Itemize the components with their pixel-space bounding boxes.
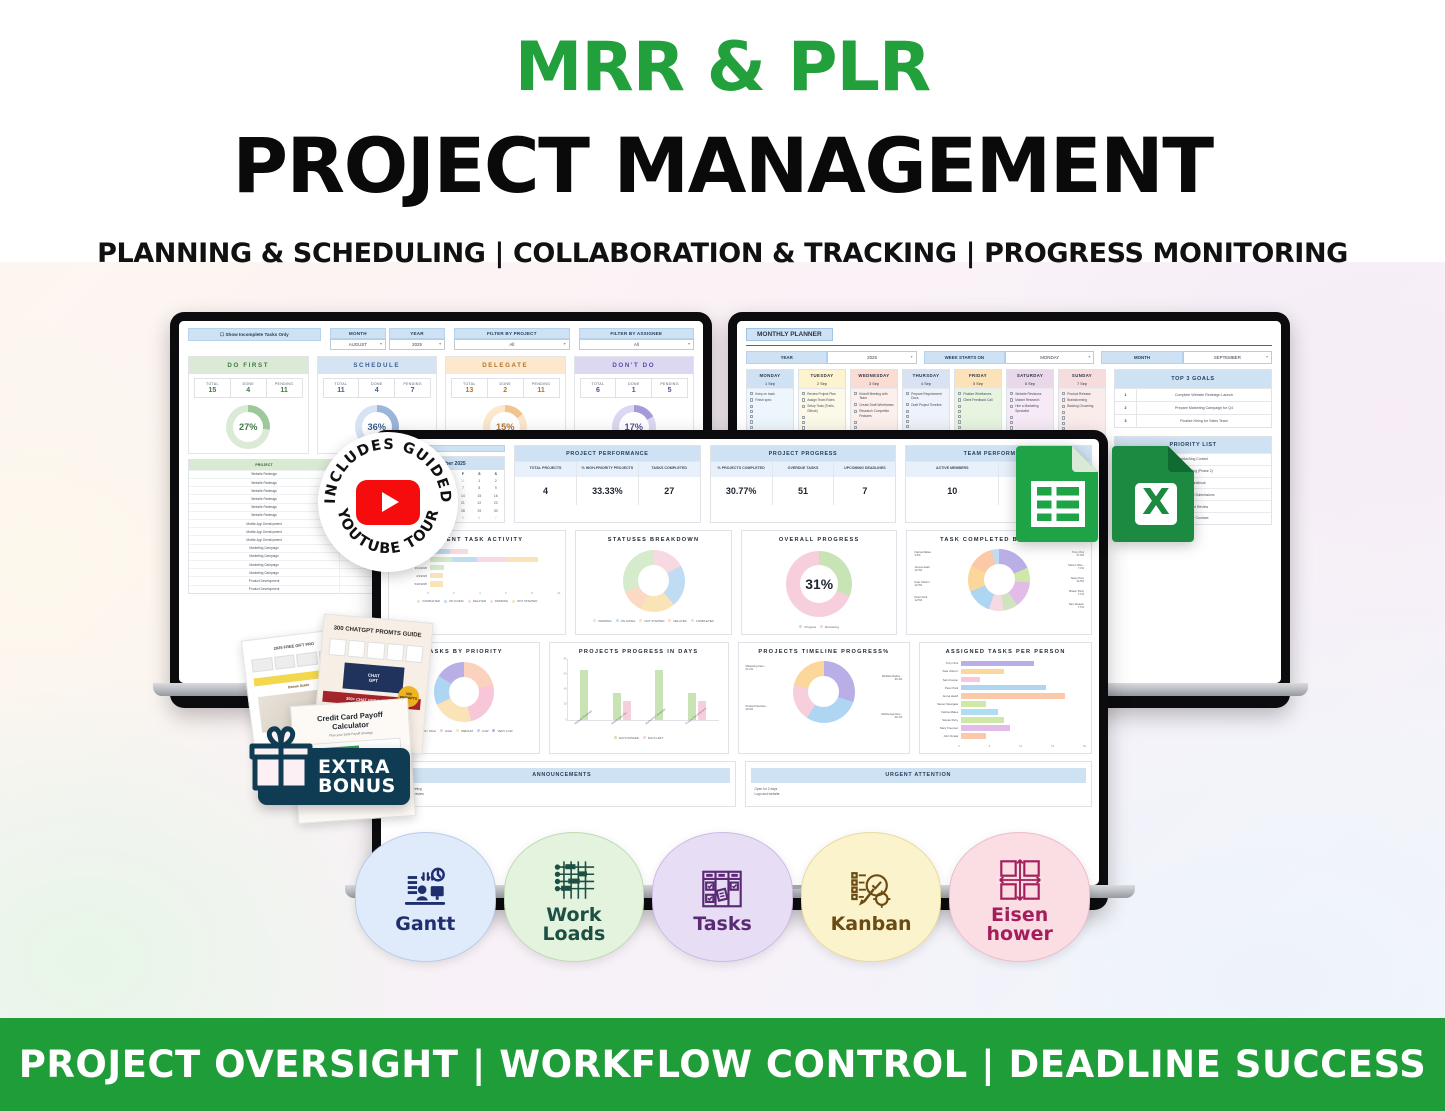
- day-task-item[interactable]: Backlog Grooming: [1062, 404, 1102, 409]
- person-name: Sam Kooper: [928, 678, 958, 682]
- control-select[interactable]: 2025: [827, 351, 916, 364]
- legend-swatch: [820, 625, 823, 628]
- task-label: Backlog Grooming: [1067, 404, 1093, 409]
- legend-label: PENDING: [598, 619, 611, 623]
- day-task-empty[interactable]: [958, 415, 998, 419]
- person-bar: [961, 677, 979, 683]
- day-task-item[interactable]: Brainstorming: [1062, 398, 1102, 403]
- quadrant-donut: 27%: [189, 398, 308, 449]
- day-task-empty[interactable]: [906, 425, 946, 429]
- task-checkbox[interactable]: [958, 405, 961, 408]
- legend-item: VERY LOW: [492, 729, 512, 733]
- task-checkbox[interactable]: [1010, 398, 1013, 401]
- goal-number: 1: [1115, 389, 1137, 401]
- excel-icon: X: [1108, 442, 1200, 546]
- legend-label: ON GOING: [621, 619, 636, 623]
- day-task-empty[interactable]: [802, 416, 842, 420]
- assigned-tasks-x-axis: 05101520: [925, 744, 1086, 748]
- bar-group: [580, 659, 588, 720]
- day-date: 6 Sep: [1007, 380, 1053, 389]
- day-task-empty[interactable]: [958, 420, 998, 424]
- stat-label: TOTAL: [581, 379, 616, 387]
- task-checkbox[interactable]: [854, 421, 857, 424]
- task-label: Review Project Plan: [807, 392, 836, 397]
- person-bar-track: [961, 693, 1083, 699]
- day-task-empty[interactable]: [750, 425, 790, 429]
- person-name: Peter Park: [928, 686, 958, 690]
- person-bar: [961, 661, 1034, 667]
- calendar-day[interactable]: 16: [488, 492, 504, 499]
- donut-callout: Steven Wes..7.1%: [1068, 564, 1084, 571]
- feature-gantt[interactable]: Gantt: [355, 832, 496, 962]
- axis-tick: 0: [565, 718, 567, 721]
- person-bar: [961, 669, 1004, 675]
- donut-callout: Peter Park12.5%: [914, 596, 927, 603]
- excel-letter: X: [1142, 482, 1170, 523]
- legend-swatch: [477, 729, 480, 732]
- kpi-metric: TOTAL PROJECTS4: [515, 461, 577, 505]
- activity-bar: [430, 581, 557, 587]
- task-checkbox[interactable]: [906, 425, 909, 428]
- legend-label: Progress: [804, 625, 816, 629]
- panel-title: PROJECTS PROGRESS IN DAYS: [555, 649, 723, 655]
- person-bar: [961, 693, 1064, 699]
- day-task-item[interactable]: Hire a Marketing Specialist: [1010, 404, 1050, 414]
- task-label: Research Competitor Features: [859, 409, 894, 419]
- legend-swatch: [593, 619, 596, 622]
- task-checkbox[interactable]: [1062, 405, 1065, 408]
- axis-tick: 8: [531, 592, 533, 595]
- stat-label: DONE: [616, 379, 651, 387]
- task-checkbox[interactable]: [906, 403, 909, 406]
- axis-tick: 4: [479, 592, 481, 595]
- axis-tick: 5: [989, 745, 991, 748]
- day-date: 4 Sep: [903, 380, 949, 389]
- planner-controls: YEAR2025WEEK STARTS ONMONDAYMONTHSEPTEMB…: [737, 346, 1281, 369]
- panel-title: ASSIGNED TASKS PER PERSON: [925, 649, 1086, 655]
- task-checkbox[interactable]: [1062, 422, 1065, 425]
- header-subtitle: PLANNING & SCHEDULING | COLLABORATION & …: [0, 238, 1445, 269]
- person-bar-track: [961, 709, 1083, 715]
- quadrant-title: DELEGATE: [446, 357, 565, 374]
- panel-title: OVERALL PROGRESS: [747, 537, 892, 543]
- task-checkbox[interactable]: [854, 426, 857, 429]
- quadrant-stat: DONE4: [359, 379, 395, 397]
- feature-tasks[interactable]: Tasks: [652, 832, 793, 962]
- legend-item: DAYS PASSED: [614, 736, 639, 740]
- legend-item: ON GOING: [444, 599, 464, 603]
- google-sheets-icon: [1012, 442, 1104, 546]
- person-name: John Smaal: [928, 734, 958, 738]
- legend-item: COMPLETED: [691, 619, 714, 623]
- quadrant-stat: TOTAL15: [195, 379, 231, 397]
- kpi-card-title: PROJECT PROGRESS: [711, 446, 896, 461]
- recent-activity-legend: COMPLETEDON GOINGDELAYEDPENDINGNOT START…: [394, 599, 560, 603]
- task-checkbox[interactable]: [750, 410, 753, 413]
- day-task-item[interactable]: Create Draft Wireframes: [854, 403, 894, 408]
- legend-swatch: [417, 600, 420, 603]
- task-checkbox[interactable]: [1010, 392, 1013, 395]
- task-checkbox[interactable]: [1010, 416, 1013, 419]
- day-task-item[interactable]: Kickoff Meeting with Team: [854, 392, 894, 402]
- task-checkbox[interactable]: [750, 415, 753, 418]
- stat-label: PENDING: [524, 379, 559, 387]
- person-row: Peter Park: [928, 685, 1083, 691]
- task-checkbox[interactable]: [1010, 421, 1013, 424]
- kpi-metrics: TOTAL PROJECTS4% HIGH-PRIORITY PROJECTS3…: [515, 461, 700, 505]
- legend-label: COMPLETED: [422, 599, 440, 603]
- day-name: FRIDAY: [955, 370, 1001, 380]
- legend-label: NOT STARTED: [517, 599, 537, 603]
- task-checkbox[interactable]: [906, 415, 909, 418]
- eisenhower-quadrant: DO FIRSTTOTAL15DONE4PENDING1127%: [188, 356, 309, 454]
- day-task-item[interactable]: Product Release: [1062, 392, 1102, 397]
- stat-value: 11: [324, 387, 359, 397]
- task-checkbox[interactable]: [906, 410, 909, 413]
- legend-item: ON GOING: [616, 619, 636, 623]
- activity-row: 4/3/2025: [397, 573, 557, 579]
- member-donut: [968, 549, 1030, 611]
- task-checkbox[interactable]: [750, 426, 753, 429]
- quadrant-stat: PENDING11: [267, 379, 302, 397]
- feature-work[interactable]: WorkLoads: [504, 832, 645, 962]
- task-checkbox[interactable]: [958, 392, 961, 395]
- calendar-day[interactable]: 6: [471, 514, 487, 521]
- axis-tick: 6: [505, 592, 507, 595]
- table-cell: Product Development: [189, 586, 340, 593]
- y-axis-ticks: 806040200: [556, 659, 568, 720]
- legend-swatch: [512, 600, 515, 603]
- kpi-metric-label: % PROJECTS COMPLETED: [711, 462, 772, 477]
- legend-label: DELAYED: [473, 599, 486, 603]
- legend-item: DELAYED: [468, 599, 486, 603]
- control-select[interactable]: MONDAY: [1005, 351, 1094, 364]
- legend-swatch: [668, 619, 671, 622]
- calendar-day[interactable]: 8: [471, 485, 487, 492]
- stat-label: PENDING: [267, 379, 302, 387]
- quadrant-stat: DONE4: [231, 379, 267, 397]
- screen-dashboard: September 2025 MTWTFSS272829303112345678…: [381, 439, 1099, 885]
- day-task-empty[interactable]: [854, 420, 894, 424]
- day-task-item[interactable]: Prepare Requirement Docs: [906, 392, 946, 402]
- day-task-empty[interactable]: [750, 404, 790, 408]
- day-task-empty[interactable]: [906, 420, 946, 424]
- task-checkbox[interactable]: [802, 416, 805, 419]
- calendar-day[interactable]: 22: [471, 500, 487, 507]
- urgent-attention-title: URGENT ATTENTION: [751, 768, 1087, 783]
- person-bar: [961, 685, 1046, 691]
- legend-swatch: [643, 736, 646, 739]
- panel-statuses-breakdown: STATUSES BREAKDOWN PENDINGON GOINGNOT ST…: [575, 530, 732, 635]
- workload-grid-icon: [551, 854, 597, 906]
- task-checkbox[interactable]: [750, 392, 753, 395]
- person-name: Mary Freeman: [928, 726, 958, 730]
- person-name: Jenna Heath: [928, 694, 958, 698]
- task-checkbox[interactable]: [1062, 411, 1065, 414]
- day-date: 3 Sep: [851, 380, 897, 389]
- donut-chart: [623, 550, 685, 612]
- kpi-metric-value: 4: [515, 477, 576, 505]
- person-row: Sam Kooper: [928, 677, 1083, 683]
- stat-value: 1: [616, 387, 651, 397]
- stat-value: 5: [652, 387, 687, 397]
- charts-row-2: TASKS BY PRIORITY VERY HIGHHIGHMEDIUMLOW…: [388, 642, 1092, 754]
- goal-text: Finalize Hiring for Sales Team: [1137, 415, 1271, 427]
- calendar-day[interactable]: 2: [488, 477, 504, 484]
- axis-tick: 20: [564, 703, 567, 706]
- task-checkbox[interactable]: [750, 398, 753, 401]
- person-name: Fatima Malea: [928, 710, 958, 714]
- legend-label: VERY LOW: [497, 729, 512, 733]
- legend-item: NOT STARTED: [512, 599, 537, 603]
- kpi-metric-value: 33.33%: [577, 477, 638, 505]
- legend-item: PENDING: [593, 619, 611, 623]
- day-task-item[interactable]: Review Project Plan: [802, 392, 842, 397]
- feature-label: Kanban: [831, 915, 912, 934]
- recent-activity-x-axis: 0246810: [394, 591, 560, 595]
- panel-urgent-attention: URGENT ATTENTION Open for 2 daysLogo and…: [745, 761, 1093, 808]
- task-checkbox[interactable]: [958, 415, 961, 418]
- axis-tick: 0: [958, 745, 960, 748]
- day-task-empty[interactable]: [958, 404, 998, 408]
- stat-value: 7: [395, 387, 430, 397]
- day-task-item[interactable]: Finalize Wireframes: [958, 392, 998, 397]
- kpi-metric: OVERDUE TASKS51: [773, 461, 835, 505]
- day-task-empty[interactable]: [1010, 416, 1050, 420]
- stat-value: 15: [195, 387, 230, 397]
- task-checkbox[interactable]: [802, 405, 805, 408]
- badge-line2: YOUTUBE TOUR: [333, 506, 442, 557]
- person-bar: [961, 701, 985, 707]
- calendar-day[interactable]: 23: [488, 500, 504, 507]
- day-task-empty[interactable]: [958, 425, 998, 429]
- kpi-metric-label: TASKS COMPLETED: [639, 462, 700, 477]
- activity-segment: [477, 557, 508, 563]
- day-task-empty[interactable]: [1010, 421, 1050, 425]
- task-label: Kickoff Meeting with Team: [859, 392, 894, 402]
- urgent-item: Logo and website: [755, 792, 1083, 797]
- planner-control: MONTHSEPTEMBER: [1101, 351, 1272, 364]
- calendar-day[interactable]: 29: [471, 507, 487, 514]
- activity-segment: [430, 581, 443, 587]
- eisenhower-filter-bar: ☐ Show Incomplete Tasks Only MONTH AUGUS…: [179, 321, 703, 354]
- quadrant-title: SCHEDULE: [318, 357, 437, 374]
- calendar-day[interactable]: 1: [471, 477, 487, 484]
- badge-line1: INCLUDES GUIDED: [323, 437, 453, 505]
- task-checkbox[interactable]: [906, 420, 909, 423]
- day-name: MONDAY: [747, 370, 793, 380]
- task-checkbox[interactable]: [802, 421, 805, 424]
- day-task-item[interactable]: Market Research: [1010, 398, 1050, 403]
- quadrant-stats: TOTAL13DONE2PENDING11: [451, 378, 560, 398]
- legend-item: LOW: [477, 729, 489, 733]
- task-label: Brainstorming: [1067, 398, 1087, 403]
- quadrant-stat: TOTAL11: [324, 379, 360, 397]
- day-task-empty[interactable]: [750, 420, 790, 424]
- person-bar: [961, 709, 998, 715]
- feature-label: Eisenhower: [986, 906, 1052, 945]
- planner-title: MONTHLY PLANNER: [746, 328, 833, 341]
- day-task-empty[interactable]: [750, 410, 790, 414]
- donut-callout: Fatima Malea3.5%: [914, 551, 930, 558]
- day-name: WEDNESDAY: [851, 370, 897, 380]
- task-label: Website Revisions: [1015, 392, 1041, 397]
- day-task-empty[interactable]: [1062, 416, 1102, 420]
- task-checkbox[interactable]: [750, 405, 753, 408]
- assignee-filter-label: FILTER BY ASSIGNEE: [579, 328, 694, 339]
- axis-tick: 60: [564, 672, 567, 675]
- day-date: 5 Sep: [955, 380, 1001, 389]
- panel-projects-timeline-progress: PROJECTS TIMELINE PROGRESS% Marketing Ca…: [738, 642, 911, 754]
- person-name: Steven Westgate: [928, 702, 958, 706]
- day-task-empty[interactable]: [1062, 421, 1102, 425]
- axis-tick: 0: [427, 592, 429, 595]
- legend-swatch: [616, 619, 619, 622]
- task-checkbox[interactable]: [958, 410, 961, 413]
- task-checkbox[interactable]: [750, 420, 753, 423]
- calendar-day[interactable]: 7: [488, 514, 504, 521]
- project-filter-select[interactable]: All: [454, 339, 569, 350]
- quadrant-stats: TOTAL15DONE4PENDING11: [194, 378, 303, 398]
- calendar-day[interactable]: 30: [488, 507, 504, 514]
- goal-row: 3Finalize Hiring for Sales Team: [1115, 414, 1271, 427]
- kpi-metrics: % PROJECTS COMPLETED30.77%OVERDUE TASKS5…: [711, 461, 896, 505]
- task-checkbox[interactable]: [958, 426, 961, 429]
- day-task-empty[interactable]: [750, 415, 790, 419]
- person-row: Jenna Heath: [928, 693, 1083, 699]
- task-board-icon: [699, 863, 745, 915]
- task-checkbox[interactable]: [854, 403, 857, 406]
- control-select[interactable]: SEPTEMBER: [1183, 351, 1272, 364]
- day-date: 1 Sep: [747, 380, 793, 389]
- day-task-empty[interactable]: [906, 409, 946, 413]
- task-label: Finish spec: [755, 398, 771, 403]
- stat-label: DONE: [359, 379, 394, 387]
- month-filter-label: MONTH: [330, 328, 386, 339]
- calendar-day[interactable]: 15: [471, 492, 487, 499]
- youtube-tour-badge: INCLUDES GUIDED YOUTUBE TOUR: [318, 432, 458, 572]
- day-task-empty[interactable]: [906, 414, 946, 418]
- show-incomplete-checkbox[interactable]: ☐ Show Incomplete Tasks Only: [188, 328, 321, 341]
- kpi-row: September 2025 MTWTFSS272829303112345678…: [388, 445, 1092, 523]
- control-label: YEAR: [746, 351, 827, 364]
- task-checkbox[interactable]: [906, 392, 909, 395]
- year-filter-select[interactable]: 2025: [389, 339, 445, 350]
- calendar-day[interactable]: 9: [488, 485, 504, 492]
- feature-kanban[interactable]: Kanban: [801, 832, 942, 962]
- badge-ring-text: INCLUDES GUIDED YOUTUBE TOUR: [318, 432, 458, 572]
- donut-chart: 31%: [786, 551, 852, 617]
- file-format-icons: X: [1012, 442, 1200, 546]
- task-checkbox[interactable]: [802, 392, 805, 395]
- person-bar-track: [961, 677, 1083, 683]
- donut-callout: Website Redes...30.3%: [882, 675, 902, 682]
- goal-row: 1Complete Website Redesign Launch: [1115, 388, 1271, 401]
- extra-bonus-badge: EXTRA BONUS: [258, 748, 410, 805]
- day-task-empty[interactable]: [854, 426, 894, 430]
- person-row: Tony Chui: [928, 661, 1083, 667]
- day-task-empty[interactable]: [958, 410, 998, 414]
- header: MRR & PLR PROJECT MANAGEMENT PLANNING & …: [0, 0, 1445, 262]
- task-checkbox[interactable]: [958, 398, 961, 401]
- planner-title-row: MONTHLY PLANNER: [737, 321, 1281, 344]
- donut-callout: Jenna Heath12.5%: [914, 566, 929, 573]
- stat-label: TOTAL: [324, 379, 359, 387]
- day-name: TUESDAY: [799, 370, 845, 380]
- donut-callout: Shawn Party7.1%: [1069, 590, 1084, 597]
- person-bar-track: [961, 725, 1083, 731]
- top-goals-card: TOP 3 GOALS 1Complete Website Redesign L…: [1114, 369, 1272, 428]
- legend-item: Progress: [799, 625, 816, 629]
- day-task-item[interactable]: Client Feedback Call: [958, 398, 998, 403]
- assignee-filter-select[interactable]: All: [579, 339, 694, 350]
- legend-item: DAYS LEFT: [643, 736, 664, 740]
- activity-row: 5/22/2025: [397, 581, 557, 587]
- feature-badges: Gantt WorkLoads Tasks Kanban: [355, 832, 1090, 962]
- day-task-item[interactable]: Research Competitor Features: [854, 409, 894, 419]
- person-bar-track: [961, 669, 1083, 675]
- day-task-item[interactable]: Finish spec: [750, 398, 790, 403]
- task-checkbox[interactable]: [1010, 405, 1013, 408]
- task-checkbox[interactable]: [854, 410, 857, 413]
- activity-segment: [430, 573, 443, 579]
- progress-days-x-labels: Website RedesignMobile App DevMarketing …: [567, 723, 719, 726]
- quadrant-stat: TOTAL13: [452, 379, 488, 397]
- day-task-empty[interactable]: [1062, 411, 1102, 415]
- task-checkbox[interactable]: [1062, 398, 1065, 401]
- panel-projects-progress-days: PROJECTS PROGRESS IN DAYS 806040200 Webs…: [549, 642, 729, 754]
- task-checkbox[interactable]: [1062, 392, 1065, 395]
- feature-eisen[interactable]: Eisenhower: [949, 832, 1090, 962]
- overall-progress-donut: 31%: [786, 551, 852, 617]
- day-task-item[interactable]: Draft Project Timeline: [906, 403, 946, 408]
- person-bar-track: [961, 701, 1083, 707]
- stat-value: 2: [488, 387, 523, 397]
- quadrant-stat: PENDING5: [652, 379, 687, 397]
- day-task-item[interactable]: Setup Tools (Trello, Github): [802, 404, 842, 414]
- stat-value: 13: [452, 387, 487, 397]
- person-name: Stevan Perry: [928, 718, 958, 722]
- legend-label: Remaining: [825, 625, 839, 629]
- task-checkbox[interactable]: [854, 392, 857, 395]
- legend-item: NOT STARTED: [639, 619, 664, 623]
- person-bar-track: [961, 685, 1083, 691]
- kpi-metric-value: 7: [834, 477, 895, 505]
- task-checkbox[interactable]: [958, 420, 961, 423]
- top-goals-title: TOP 3 GOALS: [1115, 370, 1271, 388]
- stat-label: TOTAL: [195, 379, 230, 387]
- axis-tick: 20: [1083, 745, 1086, 748]
- day-task-item[interactable]: Website Revisions: [1010, 392, 1050, 397]
- day-task-item[interactable]: Assign Team Roles: [802, 398, 842, 403]
- assigned-tasks-chart: Tony ChuiKate OsbornSam KooperPeter Park…: [925, 659, 1086, 744]
- day-task-item[interactable]: Keep on track: [750, 392, 790, 397]
- task-label: Product Release: [1067, 392, 1091, 397]
- task-checkbox[interactable]: [802, 398, 805, 401]
- legend-swatch: [490, 600, 493, 603]
- quadrant-title: DO FIRST: [189, 357, 308, 374]
- quadrant-stat: DONE2: [488, 379, 524, 397]
- footer-banner: PROJECT OVERSIGHT | WORKFLOW CONTROL | D…: [0, 1018, 1445, 1111]
- legend-label: NOT STARTED: [644, 619, 664, 623]
- month-filter-select[interactable]: AUGUST: [330, 339, 386, 350]
- eisenhower-matrix-icon: [997, 854, 1043, 906]
- day-date: 7 Sep: [1059, 380, 1105, 389]
- day-task-empty[interactable]: [802, 421, 842, 425]
- stat-value: 4: [359, 387, 394, 397]
- bar-group: [613, 659, 631, 720]
- task-checkbox[interactable]: [1062, 416, 1065, 419]
